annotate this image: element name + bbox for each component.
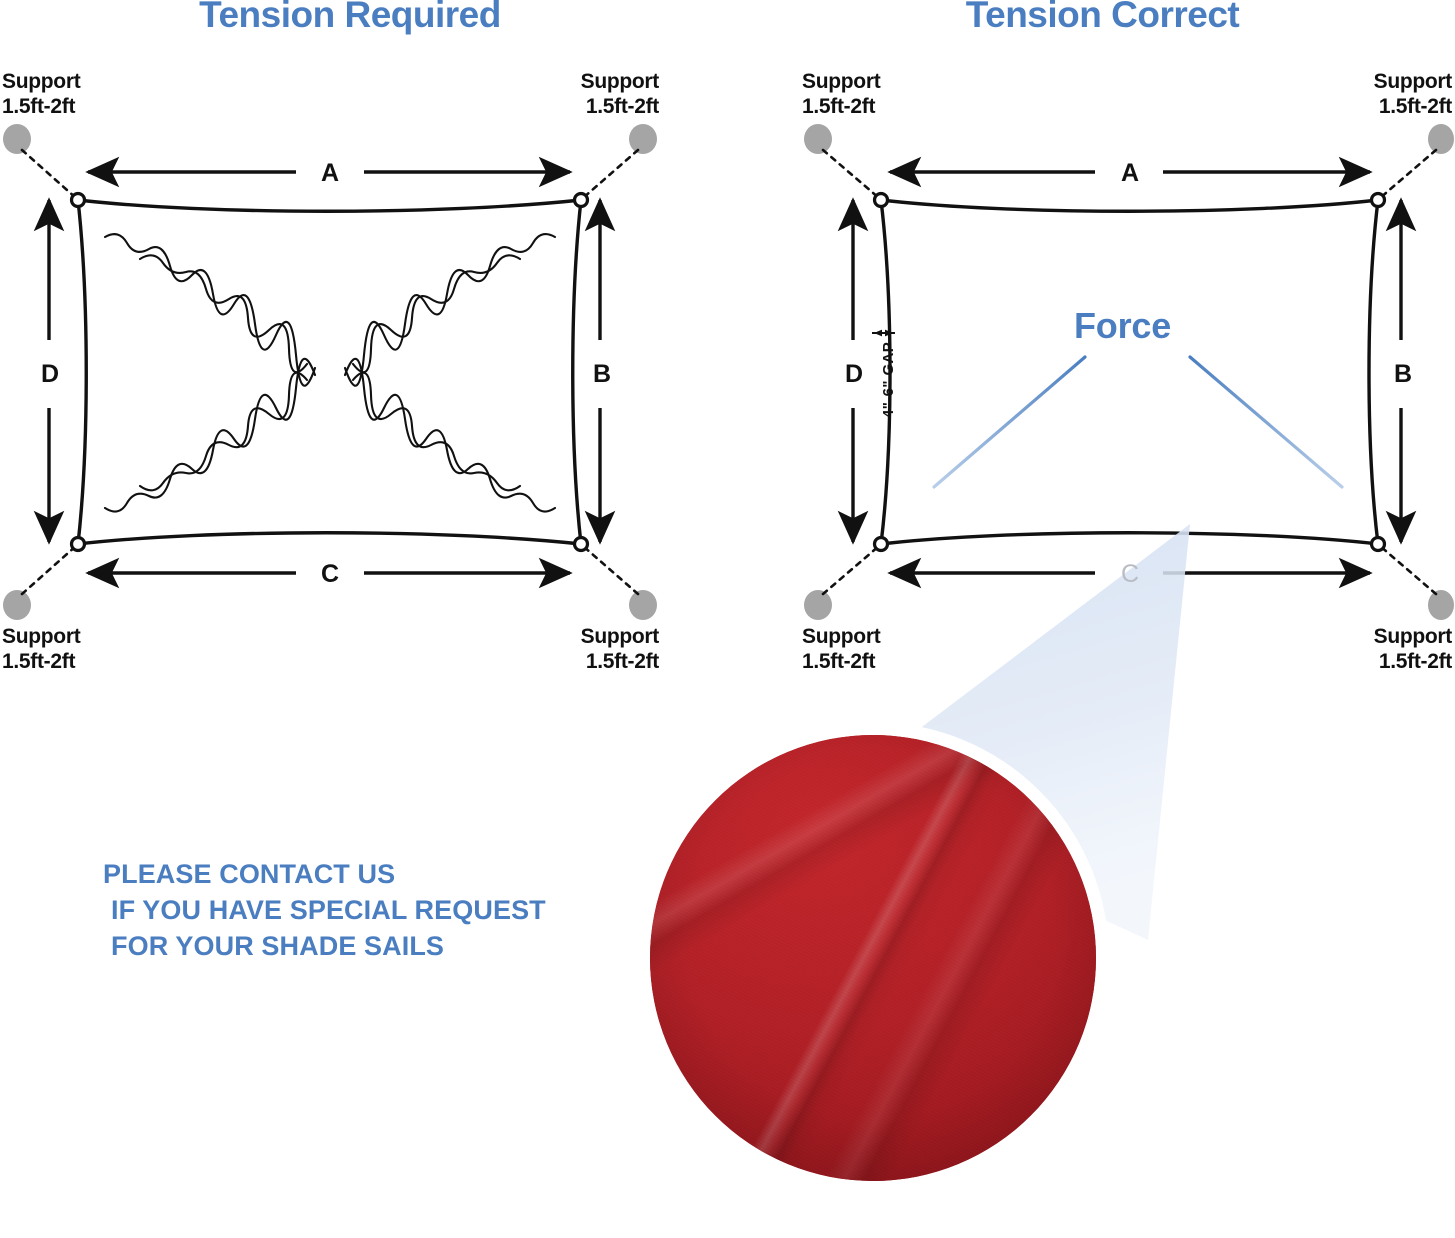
support-post-icon bbox=[804, 124, 832, 154]
contact-note-line-2: IF YOU HAVE SPECIAL REQUEST bbox=[111, 893, 546, 929]
right-panel-artwork bbox=[804, 124, 1454, 620]
left-panel-artwork bbox=[3, 124, 657, 620]
support-label-bottom-right: Support 1.5ft-2ft bbox=[462, 625, 659, 675]
sail-outline-tensioned bbox=[881, 200, 1378, 544]
contact-note-line-3: FOR YOUR SHADE SAILS bbox=[111, 929, 546, 965]
support-post-icon bbox=[629, 124, 657, 154]
dimension-label-d: D bbox=[836, 360, 872, 389]
support-label-bottom-left: Support 1.5ft-2ft bbox=[802, 625, 880, 675]
dimension-label-d: D bbox=[32, 360, 68, 389]
dimension-label-a: A bbox=[310, 159, 350, 188]
support-label-bottom-left: Support 1.5ft-2ft bbox=[2, 625, 80, 675]
support-post-icon bbox=[3, 590, 31, 620]
fabric-closeup-photo bbox=[650, 735, 1096, 1181]
support-post-icon bbox=[1428, 590, 1454, 620]
dimension-label-b: B bbox=[1385, 360, 1421, 389]
shade-sail-tension-diagram: Tension Required Tension Correct Support… bbox=[0, 0, 1455, 1238]
dimension-label-c: C bbox=[310, 560, 350, 589]
photo-vignette bbox=[650, 735, 1096, 1181]
support-label-bottom-right: Support 1.5ft-2ft bbox=[1255, 625, 1452, 675]
support-label-top-left: Support 1.5ft-2ft bbox=[2, 70, 80, 120]
panel-title-tension-required: Tension Required bbox=[0, 0, 700, 36]
panel-title-tension-correct: Tension Correct bbox=[750, 0, 1455, 36]
support-post-icon bbox=[804, 590, 832, 620]
support-label-top-left: Support 1.5ft-2ft bbox=[802, 70, 880, 120]
dimension-label-a: A bbox=[1110, 159, 1150, 188]
support-post-icon bbox=[1428, 124, 1454, 154]
dimension-label-b: B bbox=[584, 360, 620, 389]
support-post-icon bbox=[629, 590, 657, 620]
sail-outline-slack bbox=[78, 200, 581, 544]
contact-note-line-1: PLEASE CONTACT US bbox=[103, 857, 546, 893]
support-post-icon bbox=[3, 124, 31, 154]
support-label-top-right: Support 1.5ft-2ft bbox=[1255, 70, 1452, 120]
gap-dimension-label: 4"-6" GAP bbox=[880, 342, 897, 418]
force-label: Force bbox=[1074, 305, 1171, 347]
dimension-label-c: C bbox=[1110, 560, 1150, 589]
support-label-top-right: Support 1.5ft-2ft bbox=[462, 70, 659, 120]
contact-note: PLEASE CONTACT US IF YOU HAVE SPECIAL RE… bbox=[103, 857, 546, 965]
